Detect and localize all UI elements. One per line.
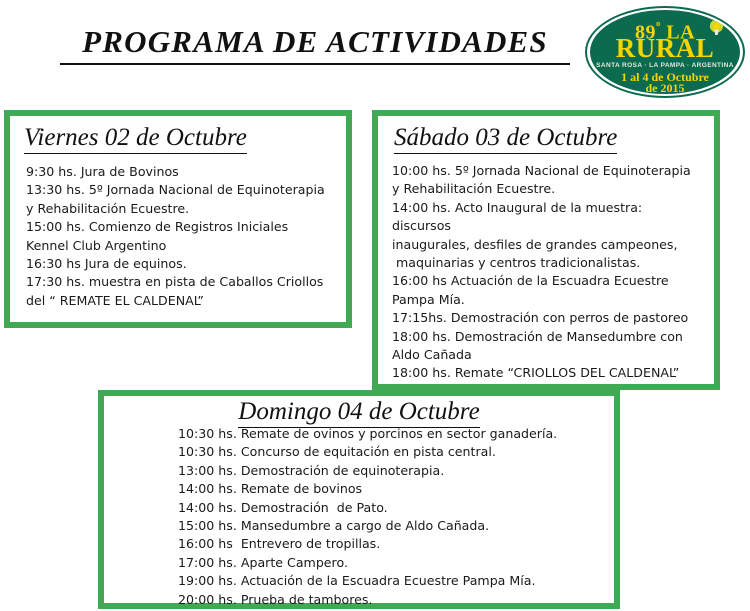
schedule-line: 17:30 hs. muestra en pista de Caballos C… bbox=[26, 273, 346, 291]
schedule-line: 16:30 hs Jura de equinos. bbox=[26, 255, 346, 273]
schedule-line: Kennel Club Argentino bbox=[26, 237, 346, 255]
panel-heading-sabado: Sábado 03 de Octubre bbox=[394, 124, 617, 154]
schedule-line: 16:00 hs Entrevero de tropillas. bbox=[178, 535, 614, 553]
panel-heading-wrap-domingo: Domingo 04 de Octubre bbox=[104, 398, 614, 428]
logo-inner-oval: 89º LA RURAL SANTA ROSA · LA PAMPA · ARG… bbox=[590, 10, 740, 94]
schedule-line: y Rehabilitación Ecuestre. bbox=[392, 180, 714, 198]
schedule-line: 14:00 hs. Remate de bovinos bbox=[178, 480, 614, 498]
panel-heading-domingo: Domingo 04 de Octubre bbox=[238, 398, 479, 428]
schedule-line: 10:00 hs. 5º Jornada Nacional de Equinot… bbox=[392, 162, 714, 180]
schedule-line: maquinarias y centros tradicionalistas. bbox=[392, 254, 714, 272]
schedule-line: 18:00 hs. Remate “CRIOLLOS DEL CALDENAL” bbox=[392, 364, 714, 382]
schedule-line: 17:00 hs. Aparte Campero. bbox=[178, 554, 614, 572]
schedule-line: del “ REMATE EL CALDENAL” bbox=[26, 292, 346, 310]
schedule-line: 13:30 hs. 5º Jornada Nacional de Equinot… bbox=[26, 181, 346, 199]
schedule-line: 14:00 hs. Acto Inaugural de la muestra: bbox=[392, 199, 714, 217]
schedule-line: 15:00 hs. Comienzo de Registros Iniciale… bbox=[26, 218, 346, 236]
schedule-line: 19:00 hs. Actuación de la Escuadra Ecues… bbox=[178, 572, 614, 590]
page-header: PROGRAMA DE ACTIVIDADES 89º LA RURAL SAN… bbox=[0, 0, 750, 105]
la-rural-logo: 89º LA RURAL SANTA ROSA · LA PAMPA · ARG… bbox=[585, 6, 745, 98]
logo-degree-symbol: º bbox=[656, 19, 661, 34]
schedule-line: 13:00 hs. Demostración de equinoterapia. bbox=[178, 462, 614, 480]
panel-lines-domingo: 10:30 hs. Remate de ovinos y porcinos en… bbox=[178, 425, 614, 609]
schedule-line: 20:00 hs. Prueba de tambores. bbox=[178, 591, 614, 609]
schedule-line: 10:30 hs. Concurso de equitación en pist… bbox=[178, 443, 614, 461]
panel-lines-sabado: 10:00 hs. 5º Jornada Nacional de Equinot… bbox=[392, 162, 714, 383]
schedule-line: y Rehabilitación Ecuestre. bbox=[26, 200, 346, 218]
schedule-line: 15:00 hs. Mansedumbre a cargo de Aldo Ca… bbox=[178, 517, 614, 535]
schedule-line: 9:30 hs. Jura de Bovinos bbox=[26, 163, 346, 181]
schedule-line: 16:00 hs Actuación de la Escuadra Ecuest… bbox=[392, 272, 714, 290]
schedule-line: 10:30 hs. Remate de ovinos y porcinos en… bbox=[178, 425, 614, 443]
schedule-panel-viernes: Viernes 02 de Octubre 9:30 hs. Jura de B… bbox=[4, 110, 352, 328]
logo-location-line: SANTA ROSA · LA PAMPA · ARGENTINA bbox=[590, 62, 740, 70]
schedule-line: Aldo Cañada bbox=[392, 346, 714, 364]
logo-word-rural: RURAL bbox=[590, 34, 740, 62]
schedule-line: discursos bbox=[392, 217, 714, 235]
panel-lines-viernes: 9:30 hs. Jura de Bovinos13:30 hs. 5º Jor… bbox=[26, 163, 346, 310]
schedule-line: 14:00 hs. Demostración de Pato. bbox=[178, 499, 614, 517]
schedule-line: inaugurales, desfiles de grandes campeon… bbox=[392, 236, 714, 254]
logo-dates-line-2: de 2015 bbox=[590, 82, 740, 94]
page-title: PROGRAMA DE ACTIVIDADES bbox=[60, 24, 570, 65]
schedule-panel-domingo: Domingo 04 de Octubre 10:30 hs. Remate d… bbox=[98, 390, 620, 609]
schedule-line: 18:00 hs. Demostración de Mansedumbre co… bbox=[392, 328, 714, 346]
schedule-line: Pampa Mía. bbox=[392, 291, 714, 309]
schedule-panel-sabado: Sábado 03 de Octubre 10:00 hs. 5º Jornad… bbox=[372, 110, 720, 390]
panel-heading-viernes: Viernes 02 de Octubre bbox=[24, 124, 247, 154]
schedule-line: 17:15hs. Demostración con perros de past… bbox=[392, 309, 714, 327]
